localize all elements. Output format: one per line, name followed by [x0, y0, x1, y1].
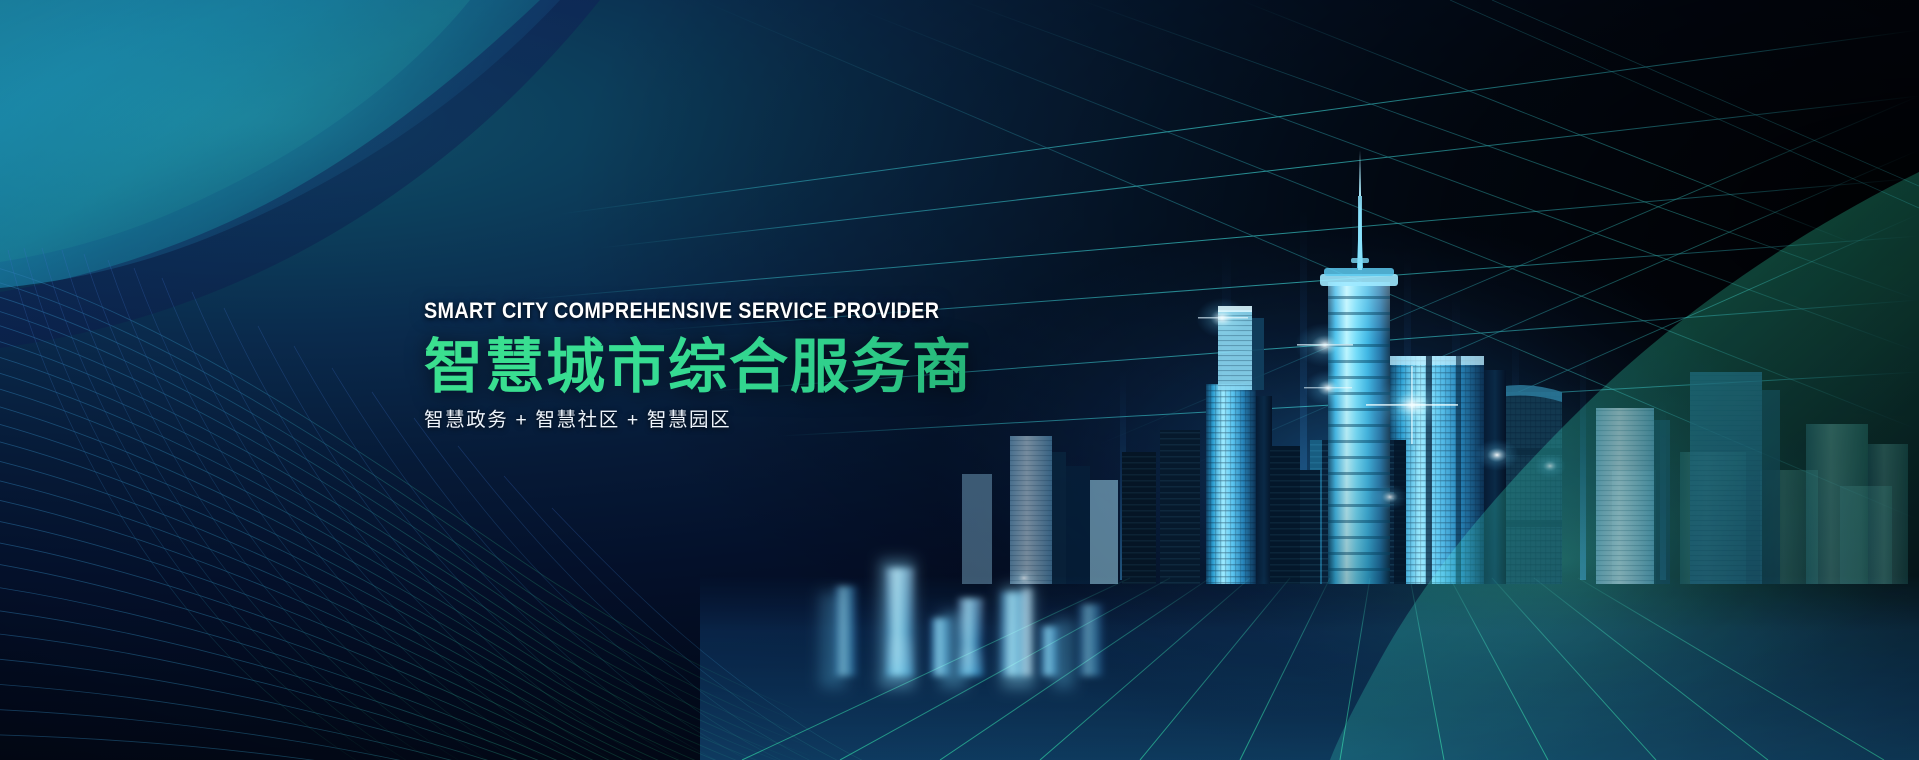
subtitle-text: 智慧政务 + 智慧社区 + 智慧园区: [424, 411, 1184, 431]
eyebrow-text: SMART CITY COMPREHENSIVE SERVICE PROVIDE…: [424, 300, 1093, 323]
hero-tower-with-spire: [1286, 150, 1406, 584]
smart-city-hero-banner: SMART CITY COMPREHENSIVE SERVICE PROVIDE…: [0, 0, 1919, 760]
page-title: 智慧城市综合服务商: [424, 336, 1184, 399]
left-tall-tower: [1206, 306, 1272, 584]
left-pale-blocks: [962, 436, 1090, 584]
dark-mid-towers: [1090, 430, 1300, 584]
right-far-green-towers: [1806, 424, 1908, 584]
hero-copy-block: SMART CITY COMPREHENSIVE SERVICE PROVIDE…: [424, 300, 1184, 431]
right-building-group: [1388, 356, 1780, 584]
